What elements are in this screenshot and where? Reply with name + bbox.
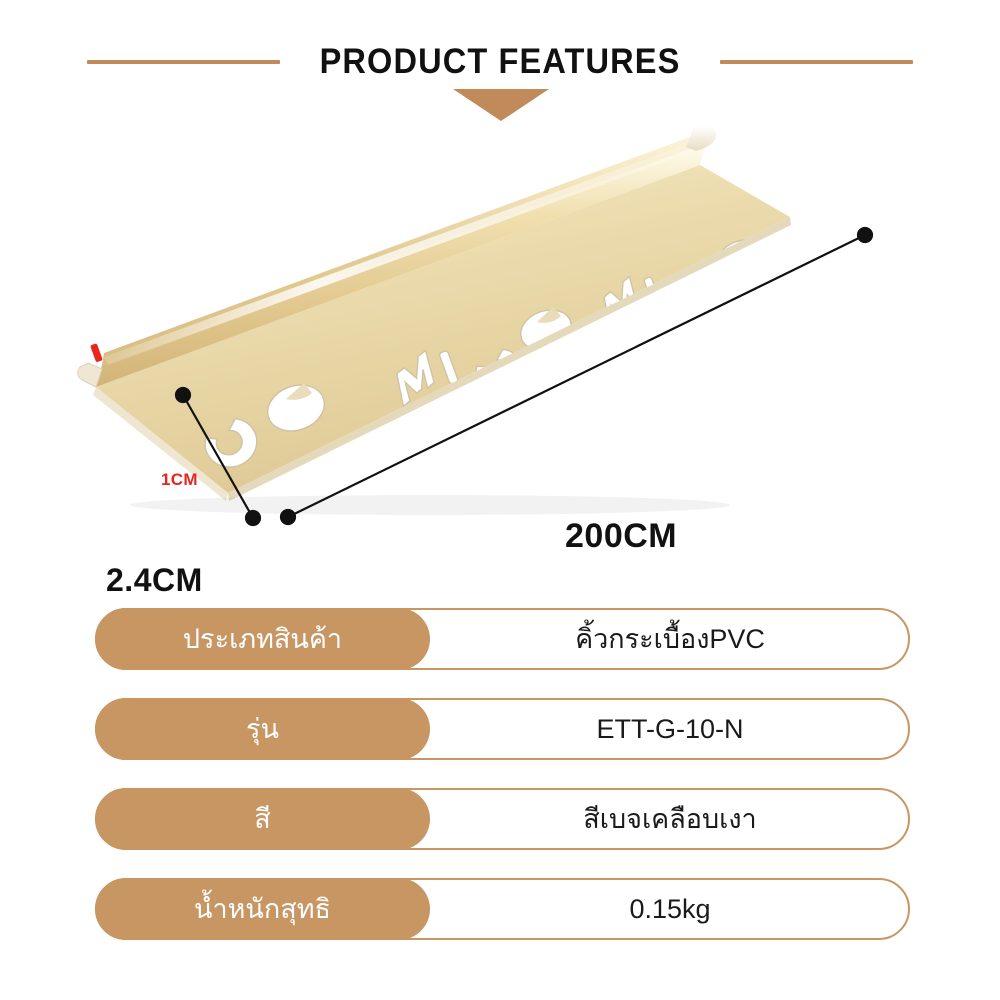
spec-label: สี (254, 806, 270, 833)
product-illustration (0, 125, 1000, 570)
spec-label: ประเภทสินค้า (183, 626, 342, 653)
spec-value: ETT-G-10-N (430, 698, 910, 760)
page-title: PRODUCT FEATURES (320, 42, 681, 82)
table-row: คิ้วกระเบื้องPVC ประเภทสินค้า (95, 608, 910, 670)
spec-label-pill: น้ำหนักสุทธิ (95, 878, 430, 940)
dimension-label-width: 2.4CM (106, 562, 203, 599)
spec-label: น้ำหนักสุทธิ (194, 896, 331, 923)
spec-label-pill: สี (95, 788, 430, 850)
table-row: 0.15kg น้ำหนักสุทธิ (95, 878, 910, 940)
spec-table: คิ้วกระเบื้องPVC ประเภทสินค้า ETT-G-10-N… (95, 608, 910, 940)
header-rule-left (87, 60, 280, 64)
spec-label-pill: ประเภทสินค้า (95, 608, 430, 670)
spec-value: สีเบจเคลือบเงา (430, 788, 910, 850)
triangle-down-icon (453, 89, 549, 121)
dimension-label-length: 200CM (565, 517, 677, 556)
spec-label-pill: รุ่น (95, 698, 430, 760)
spec-value: 0.15kg (430, 878, 910, 940)
product-image: 200CM 2.4CM 1CM (0, 125, 1000, 570)
section-header: PRODUCT FEATURES (0, 28, 1000, 96)
thickness-marker (90, 343, 103, 362)
dimension-label-thickness: 1CM (161, 470, 198, 490)
product-end-cap (686, 126, 716, 151)
table-row: สีเบจเคลือบเงา สี (95, 788, 910, 850)
product-shadow (130, 495, 730, 515)
spec-value: คิ้วกระเบื้องPVC (430, 608, 910, 670)
product-features-page: PRODUCT FEATURES (0, 0, 1000, 1000)
spec-label: รุ่น (246, 716, 279, 743)
header-rule-right (720, 60, 913, 64)
table-row: ETT-G-10-N รุ่น (95, 698, 910, 760)
